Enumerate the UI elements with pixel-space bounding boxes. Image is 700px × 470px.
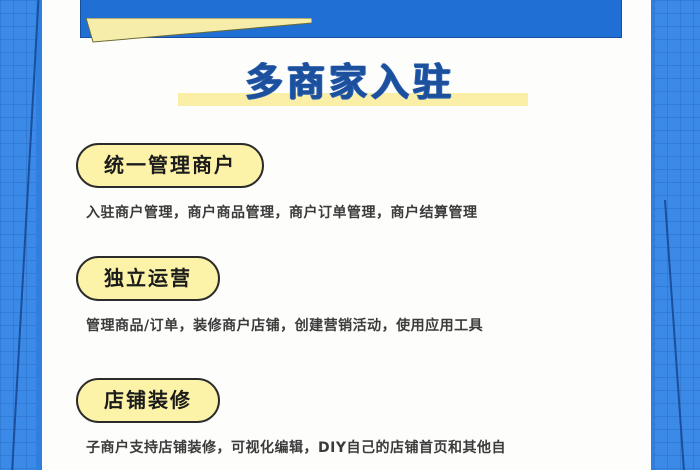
yellow-slanted-shape bbox=[86, 18, 312, 44]
feature-pill-unified-merchant-management[interactable]: 统一管理商户 bbox=[76, 143, 264, 188]
feature-description: 入驻商户管理，商户商品管理，商户订单管理，商户结算管理 bbox=[86, 202, 700, 222]
feature-block: 独立运营 管理商品/订单，装修商户店铺，创建营销活动，使用应用工具 bbox=[0, 256, 700, 335]
feature-pill-shop-decoration[interactable]: 店铺装修 bbox=[76, 378, 220, 423]
page-title: 多商家入驻 bbox=[245, 58, 455, 106]
feature-block: 店铺装修 子商户支持店铺装修，可视化编辑，DIY自己的店铺首页和其他自 bbox=[0, 378, 700, 457]
yellow-wedge-icon bbox=[86, 18, 312, 44]
poster-page: 多商家入驻 统一管理商户 入驻商户管理，商户商品管理，商户订单管理，商户结算管理… bbox=[0, 0, 700, 470]
page-title-wrap: 多商家入驻 bbox=[0, 58, 700, 110]
feature-block: 统一管理商户 入驻商户管理，商户商品管理，商户订单管理，商户结算管理 bbox=[0, 143, 700, 222]
feature-description: 管理商品/订单，装修商户店铺，创建营销活动，使用应用工具 bbox=[86, 315, 700, 335]
feature-description: 子商户支持店铺装修，可视化编辑，DIY自己的店铺首页和其他自 bbox=[86, 437, 700, 457]
feature-pill-independent-operation[interactable]: 独立运营 bbox=[76, 256, 220, 301]
